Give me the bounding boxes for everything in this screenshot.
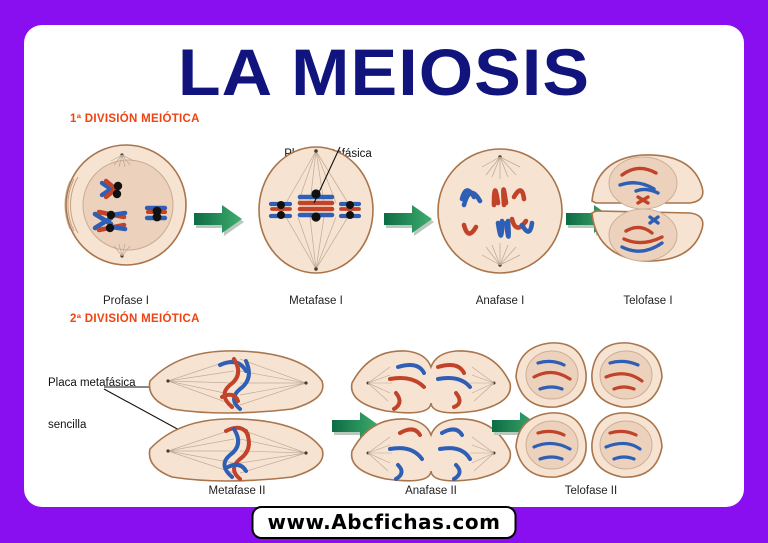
telofase-2-cell-bl [516, 413, 586, 477]
section-label-second-division: 2ª DIVISIÓN MEIÓTICA [70, 313, 200, 325]
watermark-footer: www.Abcfichas.com [252, 506, 517, 539]
page-title: LA MEIOSIS [24, 39, 744, 105]
arrow-profase1-to-metafase1 [192, 201, 248, 241]
stage-label-anafase-1: Anafase I [430, 295, 570, 307]
poster-card: LA MEIOSIS 1ª DIVISIÓN MEIÓTICA Placa me… [24, 25, 744, 507]
stage-label-telofase-2: Telofase II [506, 485, 676, 497]
anafase-2-cell-top [352, 351, 511, 413]
stage-cell-telofase-2 [506, 333, 676, 493]
stage-label-telofase-1: Telofase I [580, 295, 716, 307]
telofase-2-cell-tr [592, 343, 662, 407]
daughter-cell-bottom-telofase-1 [592, 209, 703, 261]
anafase-2-cell-bottom [352, 419, 511, 481]
nucleus-profase-1 [83, 160, 173, 250]
daughter-cell-top-telofase-1 [592, 155, 703, 209]
section-label-first-division: 1ª DIVISIÓN MEIÓTICA [70, 113, 200, 125]
metafase-2-cell-top [149, 351, 322, 413]
stage-label-metafase-1: Metafase I [246, 295, 386, 307]
telofase-2-cell-tl [516, 343, 586, 407]
stage-label-anafase-2: Anafase II [346, 485, 516, 497]
stage-cell-anafase-1 [430, 141, 570, 281]
stage-cell-telofase-1 [580, 135, 716, 285]
leader-line-placa-doble [304, 145, 344, 211]
stage-cell-profase-1 [56, 135, 196, 275]
stage-label-profase-1: Profase I [56, 295, 196, 307]
telofase-2-cell-br [592, 413, 662, 477]
stage-cell-metafase-2 [142, 341, 332, 491]
stage-label-metafase-2: Metafase II [142, 485, 332, 497]
centrosome-bottom-metafase-1 [314, 267, 318, 271]
metafase-2-cell-bottom [149, 419, 322, 481]
